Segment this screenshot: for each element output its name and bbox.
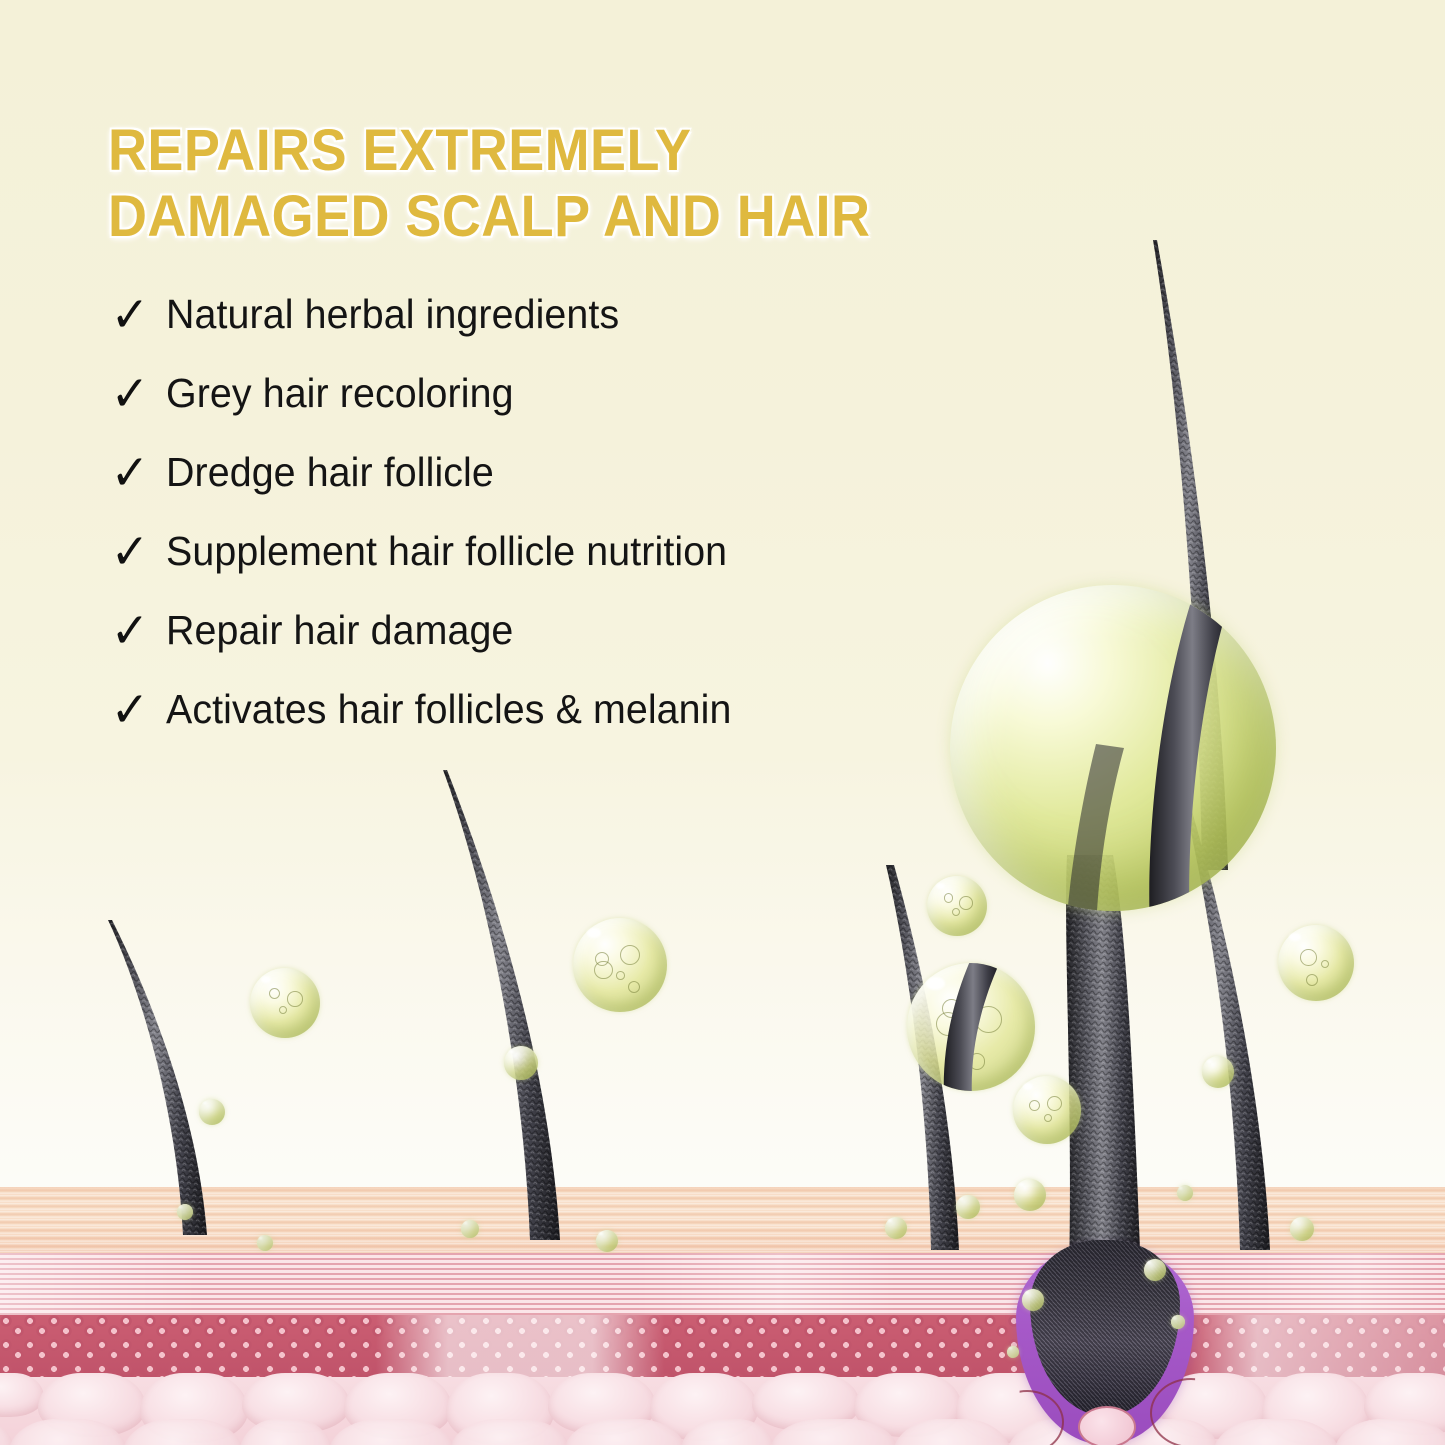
benefit-label: Repair hair damage — [166, 610, 513, 651]
benefit-item: ✓Repair hair damage — [112, 608, 972, 687]
hair-segment-in-sphere — [1066, 586, 1232, 932]
benefit-label: Natural herbal ingredients — [166, 294, 619, 335]
benefit-item: ✓Activates hair follicles & melanin — [112, 687, 972, 766]
checkmark-icon: ✓ — [111, 449, 168, 498]
benefit-label: Supplement hair follicle nutrition — [166, 531, 727, 572]
checkmark-icon: ✓ — [111, 370, 168, 419]
benefit-label: Dredge hair follicle — [166, 452, 494, 493]
benefit-item: ✓Grey hair recoloring — [112, 371, 972, 450]
benefit-item: ✓Dredge hair follicle — [112, 450, 972, 529]
benefit-item: ✓Natural herbal ingredients — [112, 292, 972, 371]
benefit-list: ✓Natural herbal ingredients✓Grey hair re… — [112, 292, 972, 766]
page-title: REPAIRS EXTREMELY DAMAGED SCALP AND HAIR — [108, 118, 880, 250]
checkmark-icon: ✓ — [111, 607, 168, 656]
product-benefit-poster: REPAIRS EXTREMELY DAMAGED SCALP AND HAIR… — [0, 0, 1445, 1445]
benefit-label: Grey hair recoloring — [166, 373, 514, 414]
checkmark-icon: ✓ — [111, 291, 168, 340]
hair-segment-in-bubble — [944, 952, 1000, 1098]
benefit-item: ✓Supplement hair follicle nutrition — [112, 529, 972, 608]
benefit-label: Activates hair follicles & melanin — [166, 689, 731, 730]
checkmark-icon: ✓ — [111, 686, 168, 735]
checkmark-icon: ✓ — [111, 528, 168, 577]
